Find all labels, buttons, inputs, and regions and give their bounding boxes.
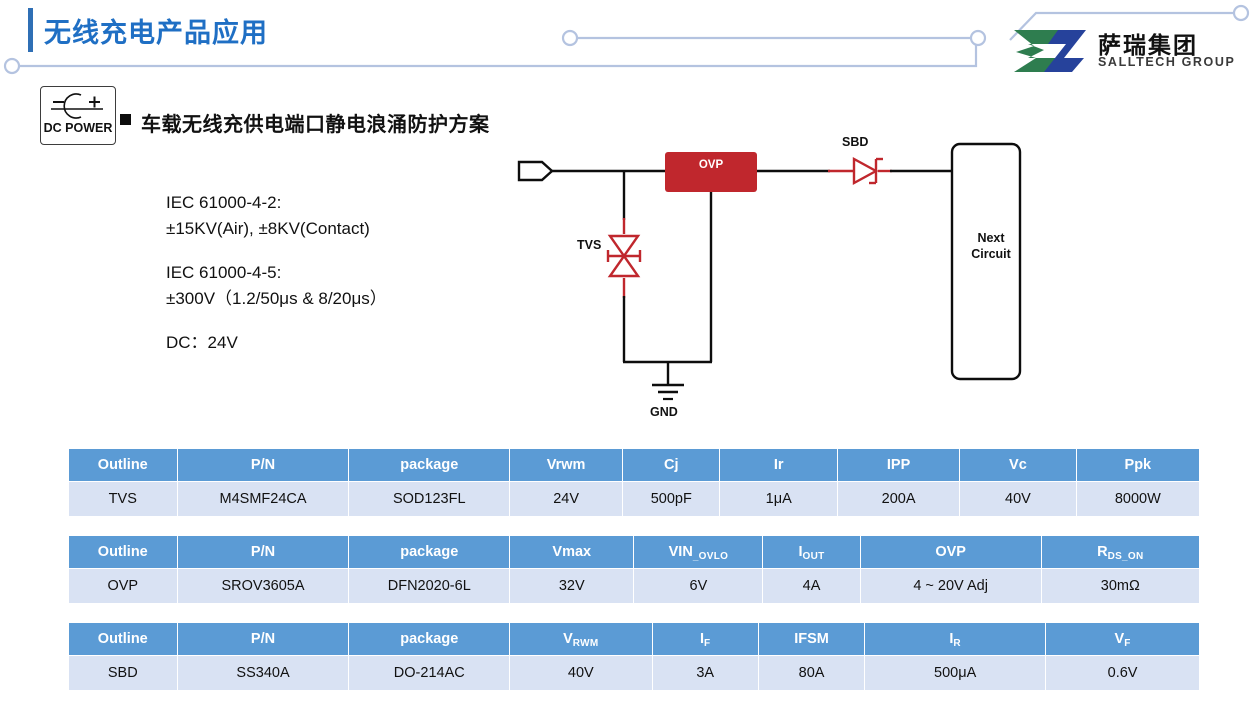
column-header: Outline	[69, 449, 178, 482]
header-sub: F	[704, 638, 710, 649]
column-header: Outline	[69, 623, 178, 656]
next-circuit-line1: Next	[977, 231, 1004, 245]
column-header: IFSM	[758, 623, 864, 656]
table-cell: 6V	[634, 569, 763, 604]
column-header: package	[349, 623, 510, 656]
table-cell: TVS	[69, 482, 178, 517]
table-cell: SOD123FL	[349, 482, 510, 517]
header-sub: DS_ON	[1108, 551, 1144, 562]
sbd-spec-table: Outline P/N package VRWM IF IFSM IR VF S…	[68, 622, 1200, 691]
spec-title: DC：24V	[166, 330, 387, 356]
next-circuit-line2: Circuit	[971, 247, 1011, 261]
dc-power-icon: DC POWER	[40, 86, 116, 145]
table-cell: 40V	[510, 656, 653, 691]
spec-group: DC：24V	[166, 330, 387, 356]
ovp-spec-table: Outline P/N package Vmax VIN_OVLO IOUT O…	[68, 535, 1200, 604]
dc-power-symbol-icon	[41, 87, 115, 121]
table-cell: SS340A	[177, 656, 349, 691]
header-sub: RWM	[573, 638, 599, 649]
header-sub: OUT	[803, 551, 825, 562]
schottky-diode-icon	[854, 159, 876, 183]
tvs-label: TVS	[577, 238, 601, 252]
company-logo: 萨瑞集团 SALLTECH GROUP	[1010, 26, 1250, 78]
column-header: Cj	[623, 449, 720, 482]
column-header: Vmax	[510, 536, 634, 569]
column-header: VF	[1046, 623, 1200, 656]
table-header-row: Outline P/N package Vrwm Cj Ir IPP Vc Pp…	[69, 449, 1200, 482]
column-header: Ppk	[1076, 449, 1199, 482]
spec-title: IEC 61000-4-2:	[166, 190, 387, 216]
logo-english-name: SALLTECH GROUP	[1098, 55, 1235, 69]
column-header: VRWM	[510, 623, 653, 656]
table-cell: 0.6V	[1046, 656, 1200, 691]
input-connector-icon	[519, 162, 552, 180]
spec-detail: ±15KV(Air), ±8KV(Contact)	[166, 216, 387, 242]
column-header: P/N	[177, 449, 349, 482]
column-header: P/N	[177, 536, 349, 569]
table-cell: 3A	[652, 656, 758, 691]
column-header: Outline	[69, 536, 178, 569]
column-header: P/N	[177, 623, 349, 656]
table-row: OVP SROV3605A DFN2020-6L 32V 6V 4A 4 ~ 2…	[69, 569, 1200, 604]
table-cell: DO-214AC	[349, 656, 510, 691]
header-base: I	[799, 544, 803, 560]
table-cell: M4SMF24CA	[177, 482, 349, 517]
spec-title: IEC 61000-4-5:	[166, 260, 387, 286]
table-cell: SROV3605A	[177, 569, 349, 604]
page-header: 无线充电产品应用 萨瑞集团 SALLTECH GROUP	[0, 0, 1257, 92]
spec-detail: ±300V（1.2/50μs & 8/20μs）	[166, 286, 387, 312]
spec-group: IEC 61000-4-2: ±15KV(Air), ±8KV(Contact)	[166, 190, 387, 242]
table-header-row: Outline P/N package VRWM IF IFSM IR VF	[69, 623, 1200, 656]
table-cell: 24V	[510, 482, 623, 517]
table-cell: 200A	[838, 482, 960, 517]
column-header: Vc	[960, 449, 1076, 482]
table-cell: 1μA	[720, 482, 838, 517]
table-cell: 80A	[758, 656, 864, 691]
header-base: V	[1115, 631, 1125, 647]
table-cell: OVP	[69, 569, 178, 604]
table-cell: 40V	[960, 482, 1076, 517]
table-cell: 8000W	[1076, 482, 1199, 517]
table-cell: 500μA	[865, 656, 1046, 691]
logo-mark-icon	[1010, 28, 1090, 74]
column-header: IF	[652, 623, 758, 656]
table-row: SBD SS340A DO-214AC 40V 3A 80A 500μA 0.6…	[69, 656, 1200, 691]
column-header: IOUT	[763, 536, 860, 569]
table-cell: 4A	[763, 569, 860, 604]
section-heading: 车载无线充供电端口静电浪涌防护方案	[141, 108, 490, 137]
column-header: IR	[865, 623, 1046, 656]
table-cell: SBD	[69, 656, 178, 691]
specification-list: IEC 61000-4-2: ±15KV(Air), ±8KV(Contact)…	[166, 190, 387, 374]
header-sub: R	[953, 638, 961, 649]
table-cell: DFN2020-6L	[349, 569, 510, 604]
header-base: VIN	[669, 544, 693, 560]
bullet-square-icon	[120, 114, 131, 125]
table-cell: 500pF	[623, 482, 720, 517]
table-header-row: Outline P/N package Vmax VIN_OVLO IOUT O…	[69, 536, 1200, 569]
table-row: TVS M4SMF24CA SOD123FL 24V 500pF 1μA 200…	[69, 482, 1200, 517]
circuit-diagram: OVP TVS SBD GND Next Circuit	[480, 130, 1060, 430]
header-base: V	[563, 631, 573, 647]
gnd-label: GND	[650, 405, 678, 419]
header-sub: F	[1124, 638, 1130, 649]
table-cell: 4 ~ 20V Adj	[860, 569, 1041, 604]
header-sub: _OVLO	[693, 551, 728, 562]
column-header: package	[349, 536, 510, 569]
spec-group: IEC 61000-4-5: ±300V（1.2/50μs & 8/20μs）	[166, 260, 387, 312]
ovp-block-label: OVP	[665, 159, 757, 171]
column-header: RDS_ON	[1041, 536, 1199, 569]
column-header: IPP	[838, 449, 960, 482]
circuit-schematic-svg	[480, 130, 1060, 430]
column-header: Ir	[720, 449, 838, 482]
next-circuit-label: Next Circuit	[958, 230, 1024, 262]
header-base: R	[1097, 544, 1107, 560]
table-cell: 30mΩ	[1041, 569, 1199, 604]
tvs-spec-table: Outline P/N package Vrwm Cj Ir IPP Vc Pp…	[68, 448, 1200, 517]
table-cell: 32V	[510, 569, 634, 604]
column-header: Vrwm	[510, 449, 623, 482]
column-header: package	[349, 449, 510, 482]
dc-power-label: DC POWER	[41, 121, 115, 135]
sbd-label: SBD	[842, 135, 868, 149]
ovp-block	[665, 152, 757, 192]
column-header: OVP	[860, 536, 1041, 569]
column-header: VIN_OVLO	[634, 536, 763, 569]
